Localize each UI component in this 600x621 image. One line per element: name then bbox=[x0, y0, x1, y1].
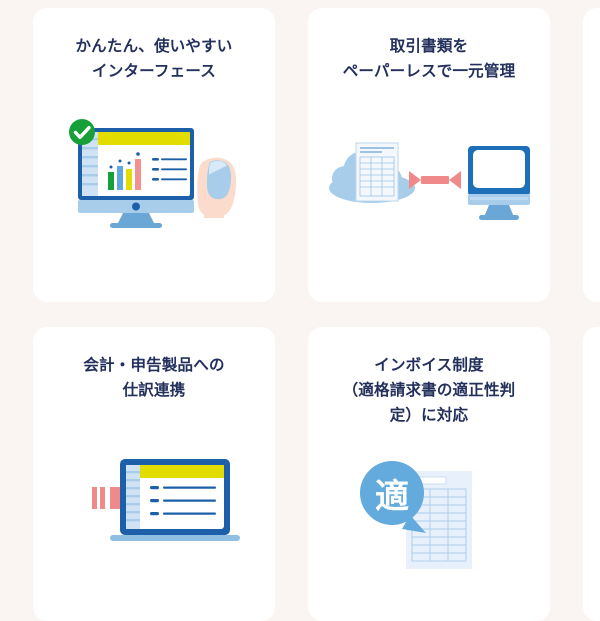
cloud-exchange-monitor-illustration bbox=[324, 136, 534, 236]
feature-card-offscreen-row2[interactable] bbox=[583, 327, 600, 621]
feature-card-accounting-linkage[interactable]: 会計・申告製品への 仕訳連携 bbox=[33, 327, 275, 621]
monitor-chart-mouse-illustration bbox=[54, 114, 254, 234]
card-title: インボイス制度 （適格請求書の適正性判 定）に対応 bbox=[322, 353, 536, 428]
feature-card-paperless-management[interactable]: 取引書類を ペーパーレスで一元管理 bbox=[308, 8, 550, 302]
illustration-invoice-badge: 適 bbox=[308, 455, 550, 585]
illustration-arrow-laptop bbox=[33, 455, 275, 585]
illustration-desktop-monitor bbox=[33, 114, 275, 244]
arrow-laptop-journal-illustration bbox=[54, 455, 254, 555]
feature-card-easy-interface[interactable]: かんたん、使いやすい インターフェース bbox=[33, 8, 275, 302]
card-grid: かんたん、使いやすい インターフェース bbox=[0, 0, 600, 600]
feature-card-grid-page: かんたん、使いやすい インターフェース bbox=[0, 0, 600, 600]
document-icon bbox=[356, 143, 398, 201]
card-title: 会計・申告製品への 仕訳連携 bbox=[47, 353, 261, 403]
card-title: 取引書類を ペーパーレスで一元管理 bbox=[322, 34, 536, 84]
illustration-cloud-document-monitor bbox=[308, 136, 550, 266]
badge-label: 適 bbox=[375, 477, 409, 517]
feature-card-offscreen-row1[interactable] bbox=[583, 8, 600, 302]
monitor-icon bbox=[468, 146, 530, 220]
double-arrow-icon bbox=[409, 171, 461, 189]
feature-card-invoice-system[interactable]: インボイス制度 （適格請求書の適正性判 定）に対応 bbox=[308, 327, 550, 621]
qualified-badge-invoice-illustration: 適 bbox=[344, 455, 514, 585]
laptop-icon bbox=[110, 459, 240, 541]
card-title: かんたん、使いやすい インターフェース bbox=[47, 34, 261, 84]
